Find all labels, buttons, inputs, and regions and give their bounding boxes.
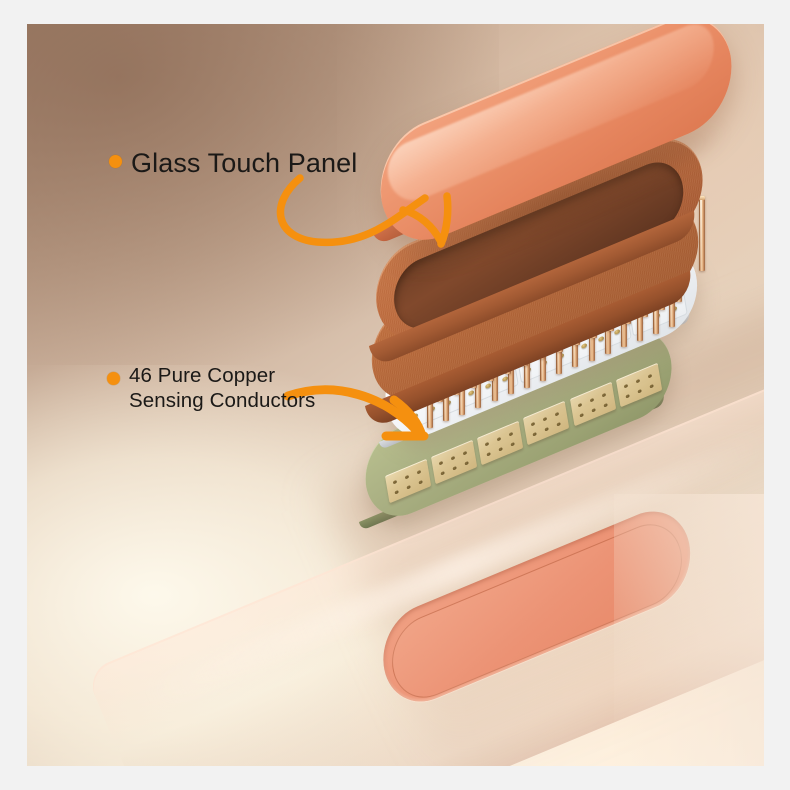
green-pcb-pad-hole xyxy=(441,471,445,476)
green-pcb-pad-hole xyxy=(395,490,399,495)
green-pcb-pad-hole xyxy=(545,427,549,432)
green-pcb-pad-hole xyxy=(465,461,469,466)
green-pcb-pad-hole xyxy=(499,447,503,452)
copper-conductor-pin xyxy=(699,196,705,271)
green-pcb-pad-hole xyxy=(577,403,581,408)
callout-glass-label: Glass Touch Panel xyxy=(131,146,357,180)
green-pcb-pad-hole xyxy=(439,461,443,466)
green-pcb-pad-hole xyxy=(451,456,455,461)
green-pcb-pad-hole xyxy=(463,451,467,456)
green-pcb-pad-hole xyxy=(648,374,652,379)
callout-copper-line2: Sensing Conductors xyxy=(129,389,315,412)
green-pcb-pad-hole xyxy=(649,384,653,389)
green-pcb-pad-hole xyxy=(509,431,513,436)
green-pcb-pad-hole xyxy=(511,442,515,447)
green-pcb-pad-hole xyxy=(589,398,593,403)
green-pcb-pad-hole xyxy=(579,413,583,418)
green-pcb-pad-hole xyxy=(453,466,457,471)
bullet-dot-icon xyxy=(109,155,122,168)
green-pcb-pad-hole xyxy=(531,422,535,427)
bullet-dot-icon xyxy=(107,372,120,385)
callout-copper-line1: 46 Pure Copper xyxy=(129,364,275,387)
screenshot-root: Glass Touch Panel 46 Pure Copper Sensing… xyxy=(0,0,790,790)
green-pcb-pad-hole xyxy=(407,485,411,490)
green-pcb-pad-hole xyxy=(405,475,409,480)
green-pcb-pad-hole xyxy=(637,389,641,394)
green-pcb-pad-hole xyxy=(533,432,537,437)
green-pcb-pad-hole xyxy=(419,480,423,485)
callout-glass-touch-panel: Glass Touch Panel xyxy=(109,146,357,180)
callout-copper-label: 46 Pure Copper Sensing Conductors xyxy=(129,363,315,413)
green-pcb-pad-hole xyxy=(543,417,547,422)
green-pcb-pad-hole xyxy=(555,412,559,417)
green-pcb-pad-hole xyxy=(603,403,607,408)
green-pcb-pad-hole xyxy=(591,408,595,413)
green-pcb-pad-hole xyxy=(636,379,640,384)
callout-copper-conductors: 46 Pure Copper Sensing Conductors xyxy=(107,363,315,413)
product-photo: Glass Touch Panel 46 Pure Copper Sensing… xyxy=(27,24,764,766)
green-pcb-pad-hole xyxy=(393,480,397,485)
green-pcb-pad-hole xyxy=(487,452,491,457)
green-pcb-pad-hole xyxy=(601,393,605,398)
green-pcb-pad-hole xyxy=(624,384,628,389)
green-pcb-pad-hole xyxy=(625,394,629,399)
device-body-edge-fade xyxy=(614,494,764,766)
green-pcb-pad-hole xyxy=(497,436,501,441)
green-pcb-pad-hole xyxy=(485,441,489,446)
green-pcb-pad-hole xyxy=(557,422,561,427)
green-pcb-pad-hole xyxy=(417,470,421,475)
